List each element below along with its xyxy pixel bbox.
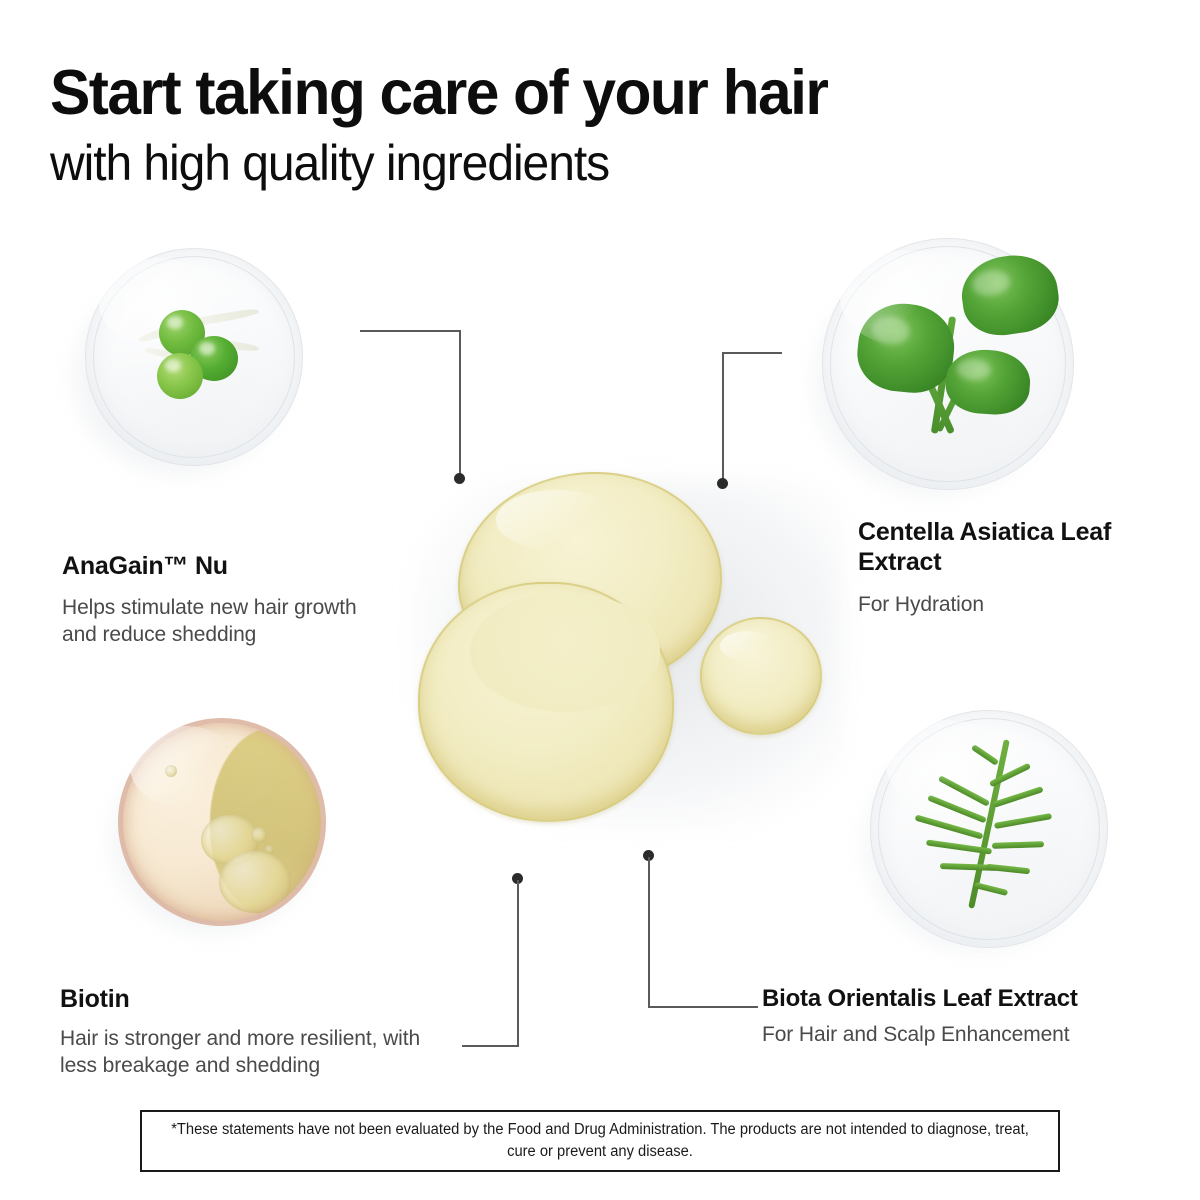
cypress-sprig-icon bbox=[870, 710, 1108, 948]
ingredient-label-biota: Biota Orientalis Leaf Extract For Hair a… bbox=[762, 985, 1162, 1049]
connector-centella-horizontal bbox=[722, 352, 782, 354]
pea-sprouts-icon bbox=[85, 248, 303, 466]
ingredient-desc: Helps stimulate new hair growth and redu… bbox=[62, 594, 392, 649]
connector-anagain-horizontal bbox=[360, 330, 461, 332]
connector-biota-vertical bbox=[648, 857, 650, 1008]
headline-line-1: Start taking care of your hair bbox=[50, 62, 1106, 125]
serum-droplet-small bbox=[700, 617, 822, 735]
connector-biotin-vertical bbox=[517, 880, 519, 1047]
petri-dish-biotin bbox=[118, 718, 326, 926]
connector-dot-centella bbox=[717, 478, 728, 489]
ingredient-label-centella: Centella Asiatica Leaf Extract For Hydra… bbox=[858, 518, 1158, 618]
petri-dish-anagain bbox=[85, 248, 303, 466]
connector-dot-anagain bbox=[454, 473, 465, 484]
ingredient-label-biotin: Biotin Hair is stronger and more resilie… bbox=[60, 985, 460, 1079]
headline-line-2: with high quality ingredients bbox=[50, 138, 1106, 188]
disclaimer-box: *These statements have not been evaluate… bbox=[140, 1110, 1060, 1172]
ingredient-label-anagain: AnaGain™ Nu Helps stimulate new hair gro… bbox=[62, 552, 392, 648]
connector-centella-vertical bbox=[722, 352, 724, 485]
ingredient-title: Biotin bbox=[60, 985, 460, 1015]
petri-dish-centella bbox=[822, 238, 1074, 490]
connector-anagain-vertical bbox=[459, 330, 461, 480]
serum-droplet-large bbox=[418, 472, 718, 822]
ingredient-title: Centella Asiatica Leaf Extract bbox=[858, 518, 1158, 577]
petri-dish-biota bbox=[870, 710, 1108, 948]
dish-rim bbox=[118, 718, 326, 926]
ingredient-desc: For Hair and Scalp Enhancement bbox=[762, 1021, 1162, 1048]
ingredient-title: Biota Orientalis Leaf Extract bbox=[762, 985, 1162, 1013]
infographic-canvas: Start taking care of your hair with high… bbox=[0, 0, 1200, 1200]
ingredient-title: AnaGain™ Nu bbox=[62, 552, 392, 582]
ingredient-desc: Hair is stronger and more resilient, wit… bbox=[60, 1025, 460, 1080]
connector-biotin-horizontal bbox=[462, 1045, 519, 1047]
connector-biota-horizontal bbox=[648, 1006, 758, 1008]
headline-block: Start taking care of your hair with high… bbox=[50, 62, 1150, 188]
centella-leaves-icon bbox=[822, 238, 1074, 490]
serum-merge bbox=[470, 592, 660, 712]
ingredient-desc: For Hydration bbox=[858, 591, 1158, 618]
disclaimer-text: *These statements have not been evaluate… bbox=[165, 1119, 1035, 1163]
